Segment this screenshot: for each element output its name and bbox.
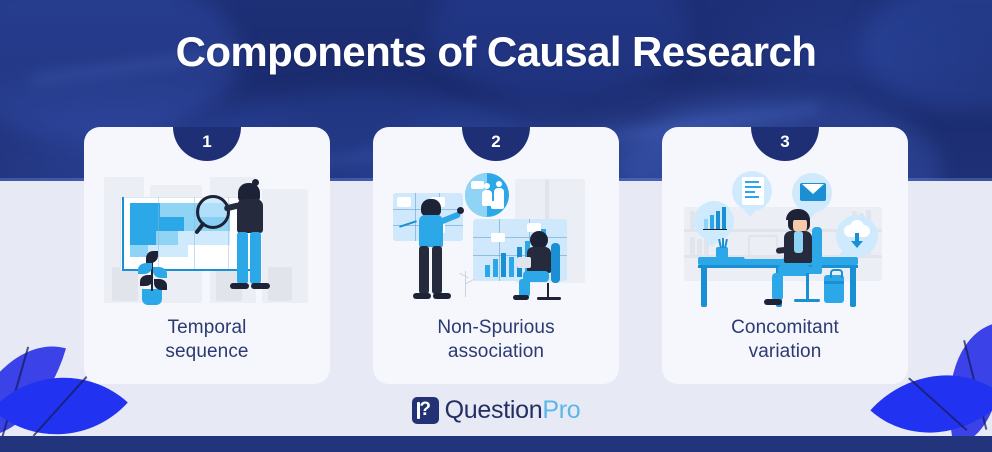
card-number-badge: 1 <box>173 127 241 161</box>
logo-question-mark-icon: ? <box>412 397 439 424</box>
card-number-badge: 2 <box>462 127 530 161</box>
infographic-canvas: Components of Causal Research 1 <box>0 0 992 452</box>
card-non-spurious-association[interactable]: 2 <box>373 127 619 384</box>
logo-word-question: Question <box>445 396 543 424</box>
card-label-line1: Temporal <box>84 316 330 340</box>
card-label-line2: association <box>373 340 619 364</box>
questionpro-logo-mark: ? <box>412 397 439 424</box>
card-label-line1: Non-Spurious <box>373 316 619 340</box>
card-label-line1: Concomitant <box>662 316 908 340</box>
footer-bar <box>0 436 992 452</box>
questionpro-logo[interactable]: ? QuestionPro <box>0 396 992 425</box>
card-label: Temporal sequence <box>84 316 330 364</box>
illustration-non-spurious-association <box>387 171 605 311</box>
illustration-temporal-sequence <box>98 171 316 311</box>
questionpro-logo-text: QuestionPro <box>445 396 581 425</box>
card-temporal-sequence[interactable]: 1 <box>84 127 330 384</box>
page-title: Components of Causal Research <box>0 27 992 77</box>
card-label: Concomitant variation <box>662 316 908 364</box>
logo-word-pro: Pro <box>542 396 580 424</box>
card-number-badge: 3 <box>751 127 819 161</box>
card-label-line2: sequence <box>84 340 330 364</box>
illustration-concomitant-variation <box>676 171 894 311</box>
card-concomitant-variation[interactable]: 3 <box>662 127 908 384</box>
card-label: Non-Spurious association <box>373 316 619 364</box>
card-label-line2: variation <box>662 340 908 364</box>
